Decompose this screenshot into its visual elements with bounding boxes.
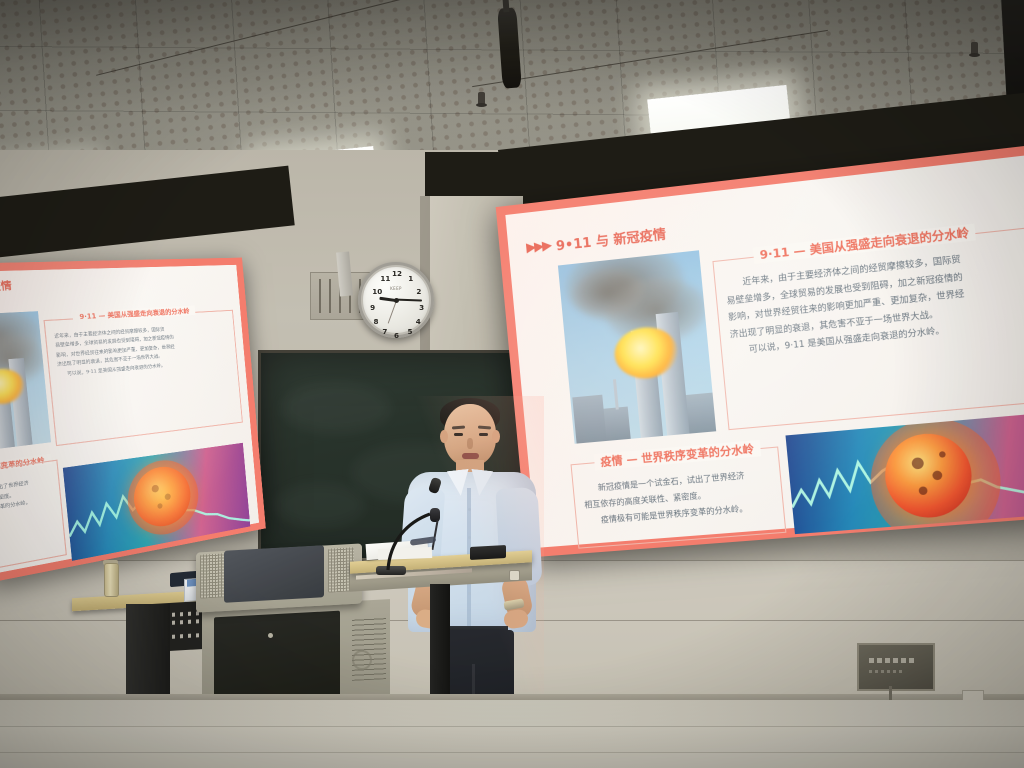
ear — [440, 430, 448, 443]
nose — [467, 438, 473, 449]
analog-wall-clock: KEEP 12 1 2 3 4 5 6 7 8 9 10 11 — [358, 262, 434, 338]
sprinkler-head-icon — [971, 42, 978, 55]
clock-brand-label: KEEP — [390, 286, 402, 291]
slide-heading-text: 9•11 与 新冠疫情 — [555, 223, 667, 254]
thermos-cup — [104, 563, 119, 597]
sprinkler-head-icon — [478, 92, 485, 105]
clock-numeral: 5 — [408, 328, 413, 335]
floor — [0, 700, 1024, 768]
callout-box-two-left — [0, 460, 67, 581]
clock-numeral: 8 — [374, 318, 379, 325]
clock-numeral: 10 — [372, 288, 382, 295]
clock-numeral: 11 — [380, 275, 390, 282]
slide-heading-right: ▶▶▶ 9•11 与 新冠疫情 — [525, 223, 666, 257]
slide-right: ▶▶▶ 9•11 与 新冠疫情 9·11 — 美国 — [496, 145, 1024, 558]
mouth — [462, 453, 479, 459]
eye — [479, 433, 488, 436]
bullet-triangles-icon: ▶▶▶ — [526, 238, 551, 256]
photo-911-left — [0, 311, 51, 455]
clock-numeral: 7 — [382, 328, 387, 335]
clock-numeral: 6 — [394, 332, 399, 339]
clock-center-pin — [394, 298, 399, 303]
clock-numeral: 2 — [416, 288, 421, 295]
projection-screen-left: 新冠疫情 9·11 — 美国从强盛走向衰退的分水岭 近年来，由于主要经济体之间的… — [0, 258, 266, 584]
slide-left: 新冠疫情 9·11 — 美国从强盛走向衰退的分水岭 近年来，由于主要经济体之间的… — [0, 258, 266, 584]
lectern-knob[interactable] — [509, 570, 520, 581]
clock-numeral: 9 — [370, 304, 375, 311]
cabinet-vent — [352, 615, 386, 681]
remote-control[interactable] — [470, 545, 506, 560]
ear — [492, 430, 500, 443]
wall-sign — [857, 643, 935, 691]
av-monitor[interactable] — [224, 545, 324, 603]
eye — [454, 433, 463, 436]
clock-numeral: 3 — [419, 304, 424, 311]
projection-screen-right: ▶▶▶ 9•11 与 新冠疫情 9·11 — 美国 — [496, 145, 1024, 558]
photo-911-right — [558, 250, 716, 444]
slide-heading-left: 新冠疫情 — [0, 278, 12, 295]
clock-numeral: 4 — [416, 318, 421, 325]
cabinet-logo — [352, 650, 372, 670]
clock-numeral: 1 — [408, 275, 413, 282]
cabinet-lock-icon[interactable] — [268, 633, 273, 638]
speaker-grille — [200, 553, 226, 598]
photo-virus-right — [785, 410, 1024, 535]
clock-numeral: 12 — [392, 270, 402, 277]
lecture-hall-scene: KEEP 12 1 2 3 4 5 6 7 8 9 10 11 新冠疫情 — [0, 0, 1024, 768]
